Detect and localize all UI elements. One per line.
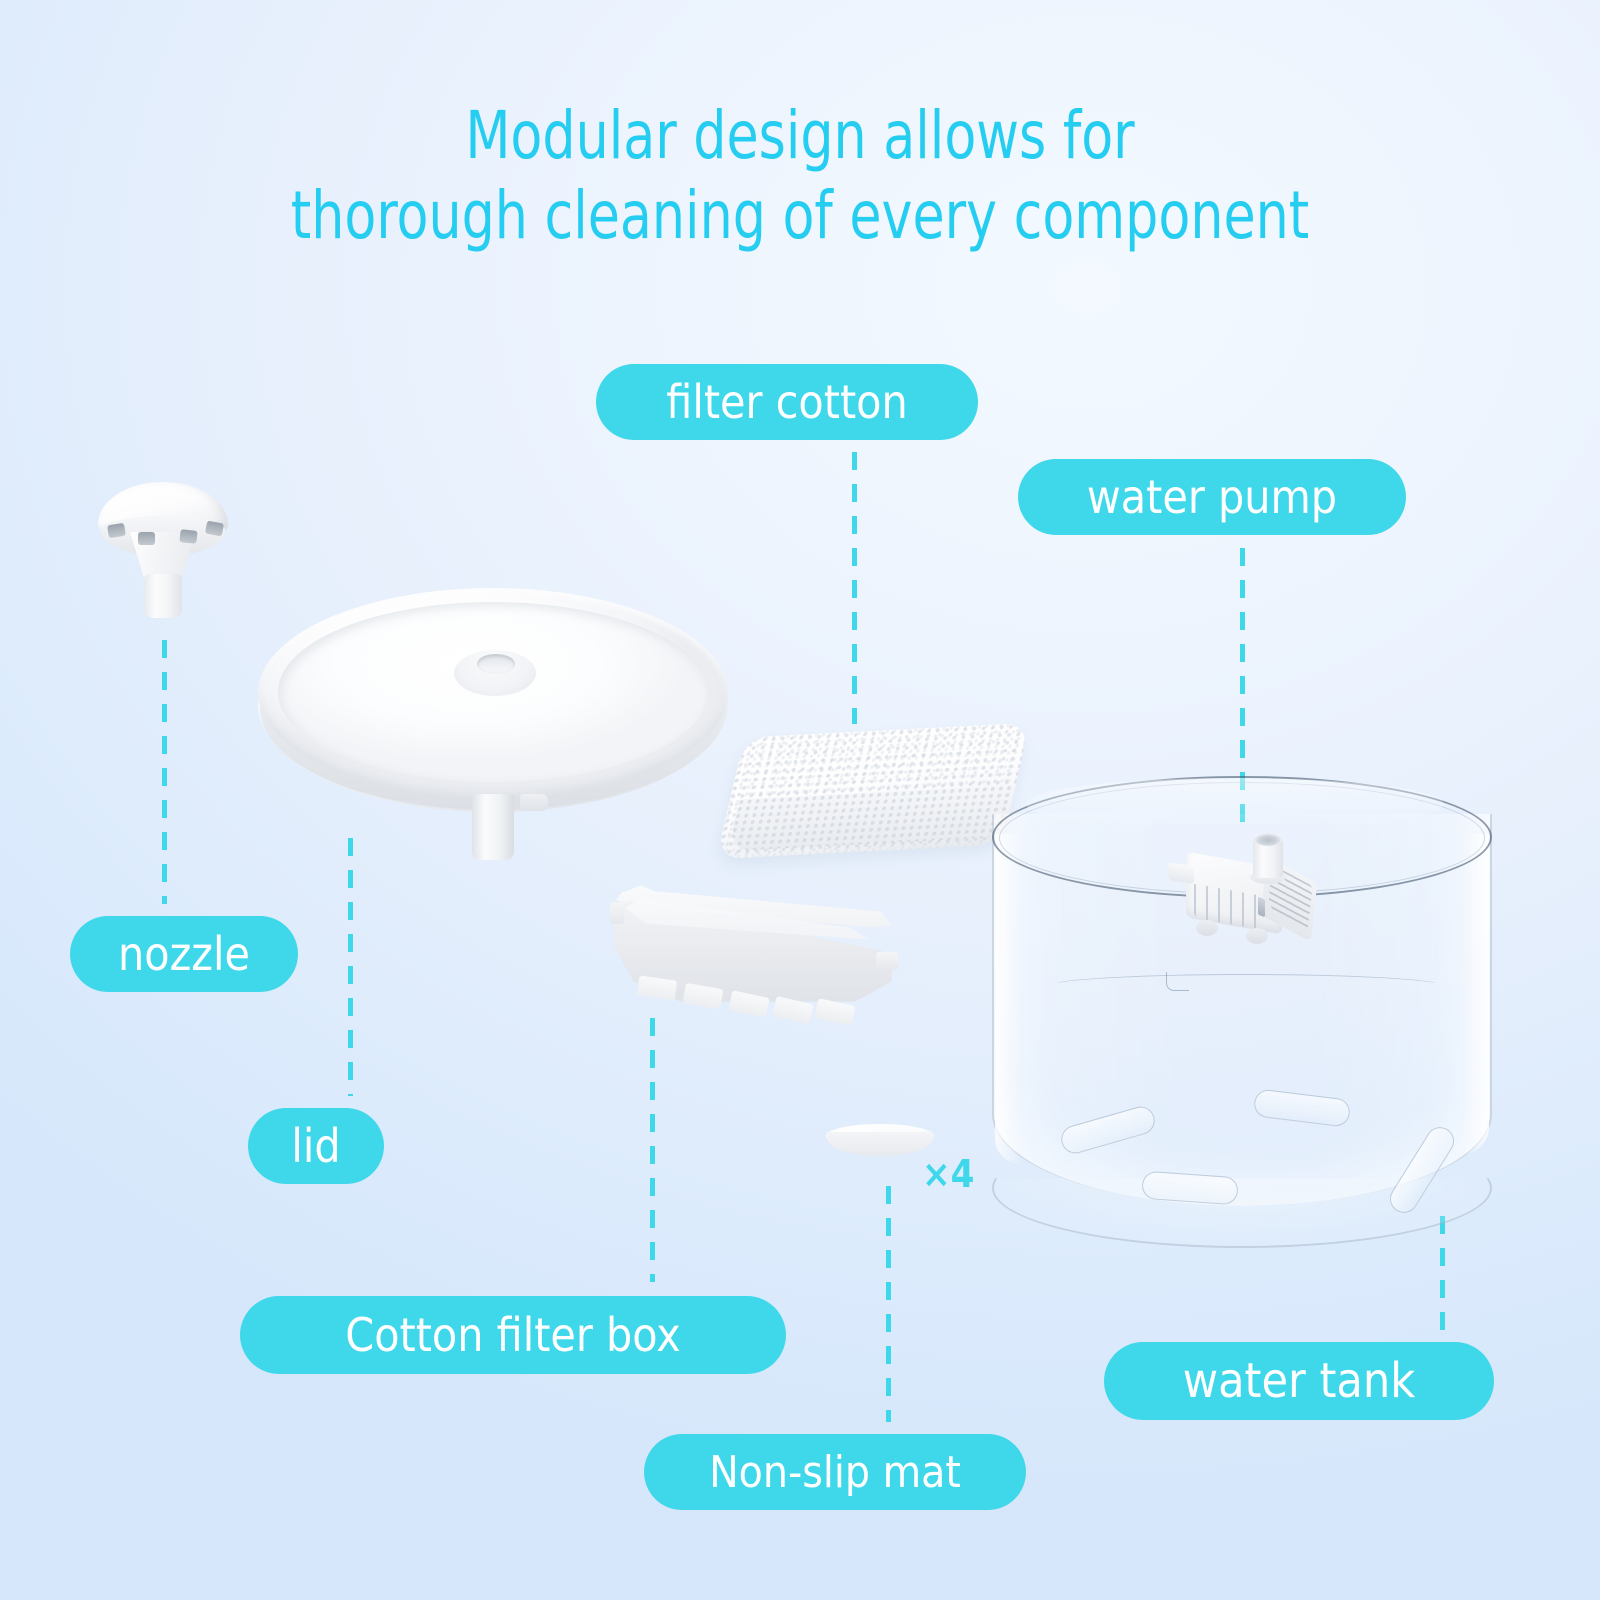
water-tank-notch: [1166, 972, 1189, 991]
water-tank-rim-highlight: [1026, 778, 1444, 830]
part-lid: [258, 588, 728, 868]
nozzle-stem: [144, 574, 182, 618]
leader-line-cotton-filter-box: [650, 1018, 655, 1282]
part-filter-cotton: [732, 730, 1014, 852]
part-nozzle: [94, 482, 232, 618]
filter-box-left-tab: [610, 902, 624, 924]
leader-line-non-slip-mat: [886, 1186, 891, 1422]
label-nozzle[interactable]: nozzle: [70, 916, 298, 992]
water-pump-outlet-opening: [1253, 833, 1283, 846]
label-lid[interactable]: lid: [248, 1108, 384, 1184]
water-tank-right-highlight: [1462, 834, 1489, 1154]
page-title: Modular design allows for thorough clean…: [96, 96, 1504, 256]
nozzle-vent-slot: [107, 523, 126, 538]
lid-stem: [472, 794, 514, 860]
leader-line-nozzle: [162, 640, 167, 904]
water-tank-left-highlight: [995, 834, 1021, 1164]
nozzle-vent-slot: [179, 529, 197, 544]
leader-line-lid: [348, 838, 353, 1096]
filter-box-right-tab: [876, 952, 898, 970]
filter-box-slot: [637, 975, 677, 1000]
water-pump-suction-foot: [1196, 920, 1218, 936]
label-cotton-filter-box[interactable]: Cotton filter box: [240, 1296, 786, 1374]
label-water-pump[interactable]: water pump: [1018, 459, 1406, 535]
water-pump-inlet-port: [1168, 862, 1194, 884]
label-non-slip-mat[interactable]: Non-slip mat: [644, 1434, 1026, 1510]
water-pump-switch: [1258, 897, 1265, 918]
label-water-tank[interactable]: water tank: [1104, 1342, 1494, 1420]
filter-box-slot: [814, 998, 855, 1025]
leader-line-filter-cotton: [852, 452, 857, 724]
nozzle-vent-slot: [138, 532, 155, 545]
lid-center-hole: [477, 654, 515, 674]
infographic-canvas: Modular design allows for thorough clean…: [0, 0, 1600, 1600]
part-water-pump: [1168, 838, 1318, 950]
water-pump-suction-foot: [1246, 928, 1268, 944]
part-cotton-filter-box: [610, 874, 898, 1020]
lid-tab: [520, 794, 548, 811]
non-slip-mat-side: [827, 1132, 933, 1156]
part-non-slip-mat: [826, 1124, 934, 1158]
non-slip-mat-quantity-text: ×4: [922, 1152, 974, 1196]
label-filter-cotton[interactable]: filter cotton: [596, 364, 978, 440]
